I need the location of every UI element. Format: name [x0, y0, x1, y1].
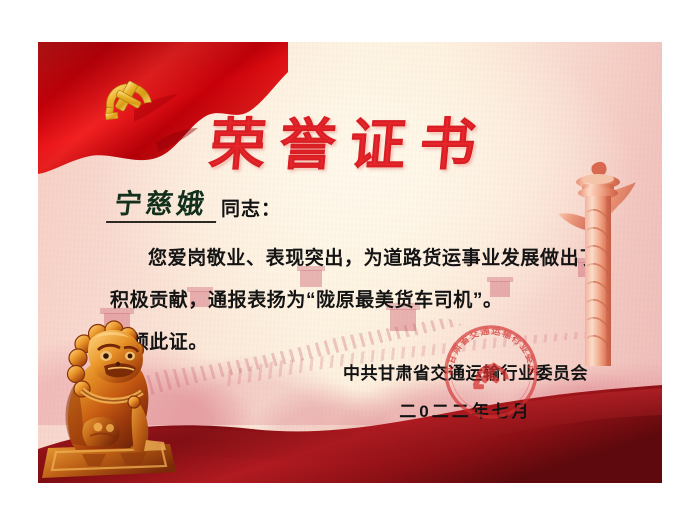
issue-date: 二0二二年七月 — [343, 397, 588, 422]
signature-block: 中共甘肃省交通运输行业委员会 二0二二年七月 — [343, 359, 588, 422]
body-line-1: 您爱岗敬业、表现突出，为道路货运事业发展做出了 — [110, 238, 580, 280]
recipient-suffix: 同志： — [221, 194, 281, 223]
body-line-2: 积极贡献，通报表扬为“陇原最美货车司机”。 — [110, 280, 580, 322]
issuing-organization: 中共甘肃省交通运输行业委员会 — [343, 359, 588, 384]
page-title: 荣誉证书 — [38, 100, 662, 181]
certificate-body: 您爱岗敬业、表现突出，为道路货运事业发展做出了 积极贡献，通报表扬为“陇原最美货… — [110, 238, 580, 364]
honor-certificate: 荣誉证书 宁慈娥 同志： 您爱岗敬业、表现突出，为道路货运事业发展做出了 积极贡… — [38, 42, 662, 483]
screenshot-root: 荣誉证书 宁慈娥 同志： 您爱岗敬业、表现突出，为道路货运事业发展做出了 积极贡… — [0, 0, 700, 525]
body-line-3: 特颁此证。 — [110, 322, 580, 364]
recipient-name: 宁慈娥 — [106, 190, 220, 223]
recipient-line: 宁慈娥 同志： — [108, 190, 281, 223]
